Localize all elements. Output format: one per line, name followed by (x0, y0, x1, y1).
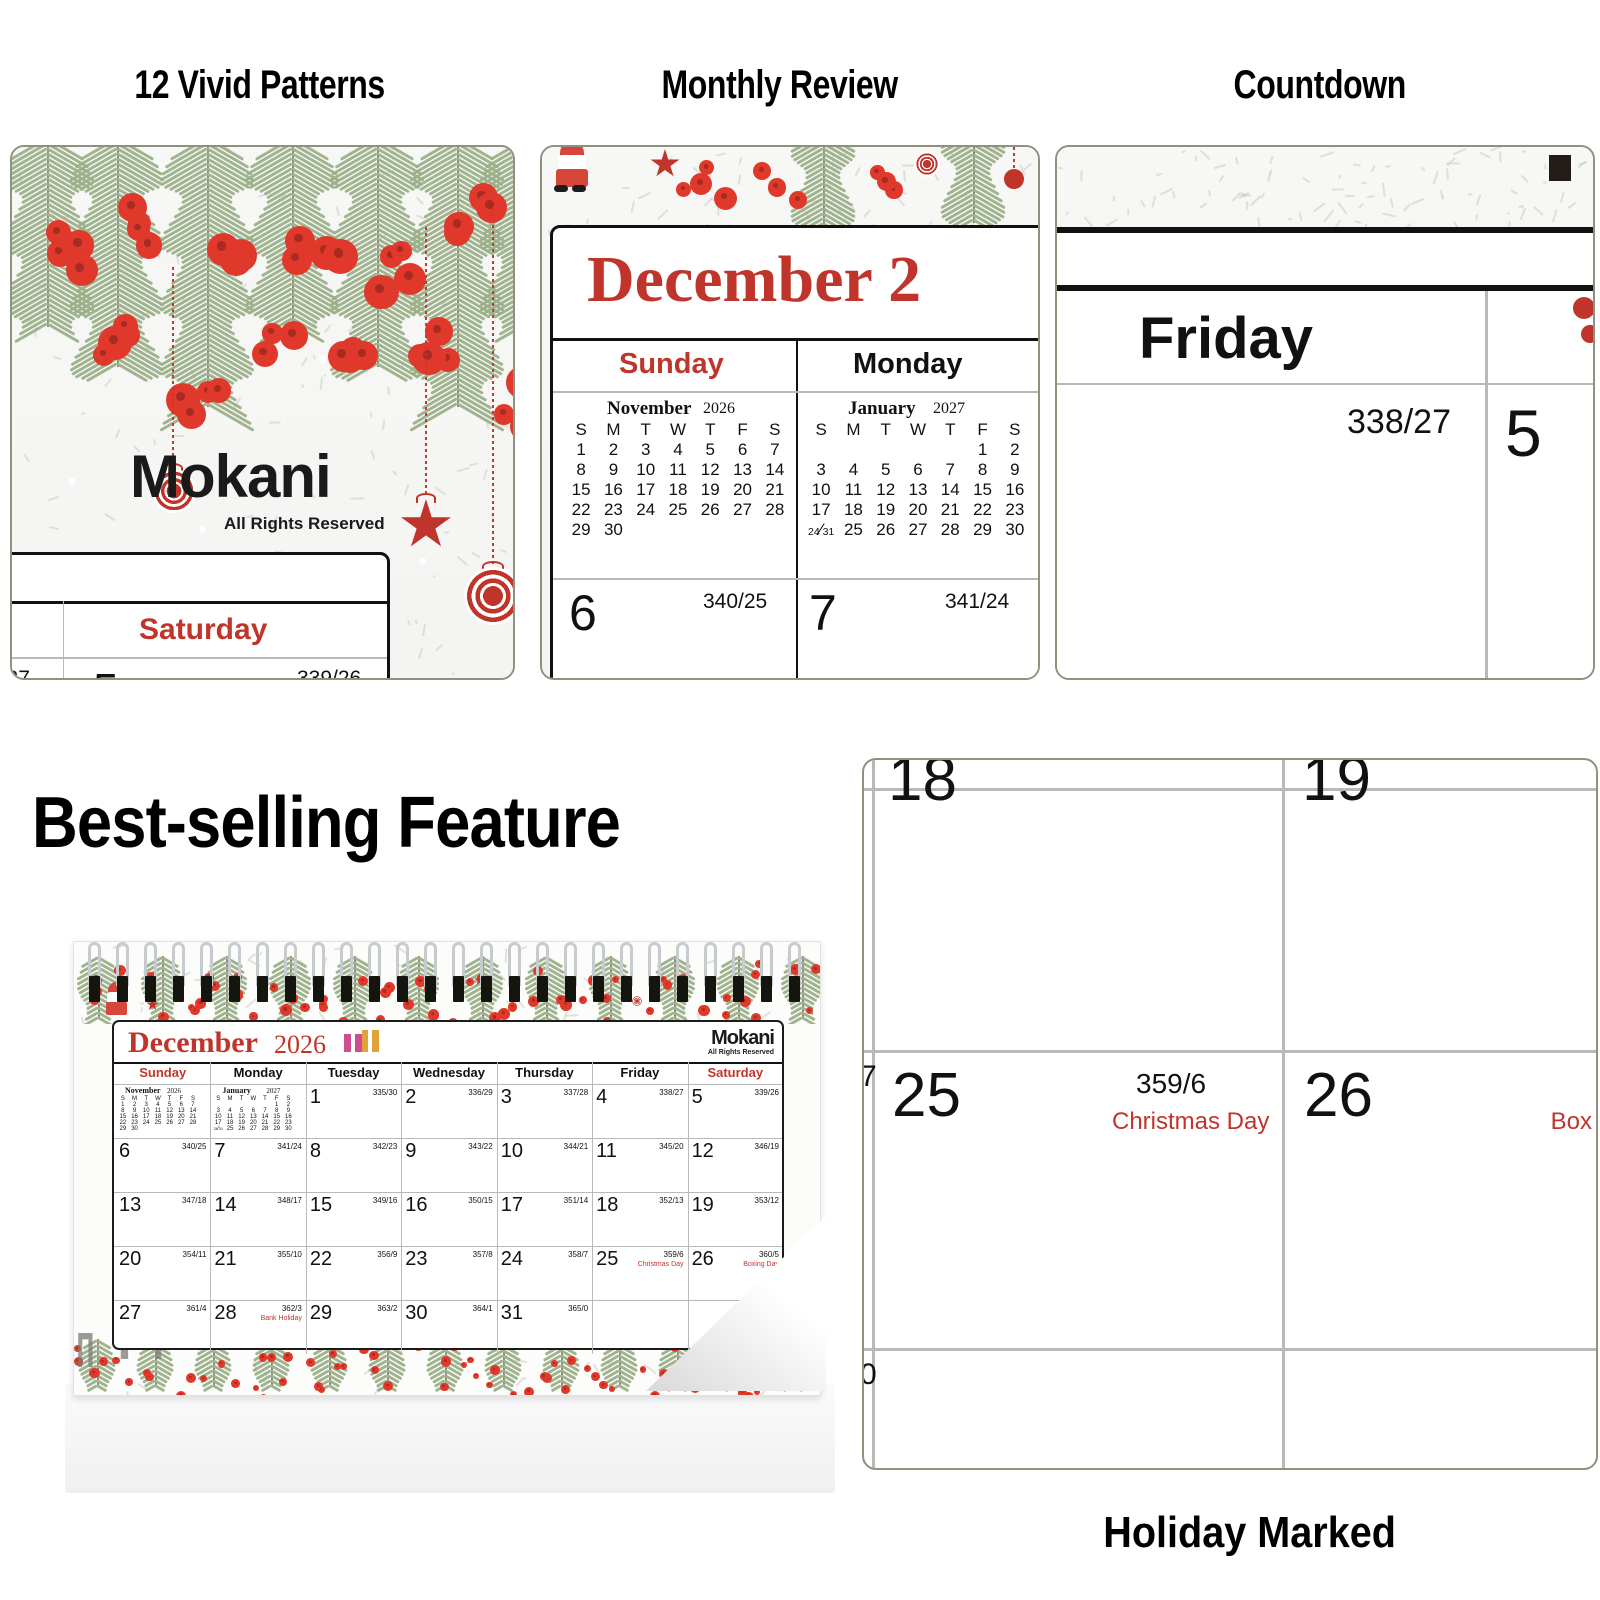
mini-day-cell: 2 (999, 440, 1031, 460)
holiday-label: Boxing Day (725, 1261, 779, 1268)
day-header-friday: Friday (1139, 305, 1313, 372)
calendar-sheet-preview: Saturday 5 339/26 8/27 (10, 552, 390, 680)
countdown-code: 341/24 (266, 1142, 302, 1151)
heading-patterns: 12 Vivid Patterns (0, 40, 520, 130)
spiral-clamp (761, 976, 772, 1002)
mini-day-cell: 15 (966, 480, 998, 500)
holiday-label: Christmas Day (630, 1261, 684, 1268)
paper-fleck (351, 497, 365, 499)
countdown-code-25: 359/6 (1136, 1068, 1206, 1100)
mini-month-name-november: November (607, 398, 691, 420)
mini-day-cell: 30 (597, 520, 629, 540)
mini-day-cell: 17 (630, 480, 662, 500)
berry-icon (282, 245, 312, 275)
mini-month-year-january: 2027 (266, 1087, 280, 1095)
day-number: 3 (501, 1086, 512, 1109)
spiral-clamp (117, 976, 128, 1002)
berry-icon (508, 1002, 517, 1011)
mini-day-cell (175, 1126, 187, 1132)
mini-day-cell: 15 (565, 480, 597, 500)
mini-day-cell: 5 (694, 440, 726, 460)
day-header-monday: Monday (853, 348, 963, 381)
mini-day-cell: 18 (662, 480, 694, 500)
mini-day-cell: 30 (283, 1126, 295, 1132)
heading-best-selling: Best-selling Feature (32, 778, 872, 868)
mini-month-name-january: January (222, 1086, 250, 1095)
countdown-code: 338/27 (648, 1088, 684, 1097)
month-title: December 2 (587, 242, 921, 318)
panel-monthly-review: December 2 Sunday Monday November 2026 S… (540, 145, 1040, 680)
berry-icon (260, 1394, 267, 1395)
countdown-code: 359/6 (648, 1250, 684, 1259)
spiral-binding (74, 942, 820, 998)
mini-day-cell: 20 (902, 500, 934, 520)
countdown-code-partial: 7 (862, 1060, 877, 1094)
mini-day-cell: 16 (999, 480, 1031, 500)
spiral-clamp (593, 976, 604, 1002)
berry-icon (806, 1007, 813, 1014)
feature-panels-row: Mokani All Rights Reserved Saturday 5 33… (0, 145, 1600, 680)
ornament-thread (1013, 147, 1015, 171)
berry-icon (118, 193, 147, 222)
countdown-code: 340/25 (170, 1142, 206, 1151)
berry-icon (789, 191, 807, 209)
mini-day-cell: 6 (902, 460, 934, 480)
heading-monthly: Monthly Review (520, 40, 1040, 130)
mini-day-cell: 7 (759, 440, 791, 460)
calendar-year: 2026 (274, 1030, 326, 1060)
berry-icon (283, 1352, 294, 1363)
mini-day-cell (164, 1126, 176, 1132)
day-header-saturday: Saturday (139, 613, 267, 647)
berry-icon (231, 1379, 240, 1388)
mini-weekday: T (934, 420, 966, 440)
day-number-18: 18 (888, 758, 957, 815)
day-number: 19 (692, 1194, 714, 1217)
countdown-code: 342/23 (361, 1142, 397, 1151)
paper-fleck (1544, 164, 1546, 169)
mini-weekday: F (966, 420, 998, 440)
day-number-6: 6 (569, 584, 597, 642)
mini-day-cell: 22 (565, 500, 597, 520)
mini-day-cell: 26 (870, 520, 902, 540)
product-photo-calendar: December 2026 Mokani All Rights Reserved… (55, 893, 855, 1533)
weekday-header-wednesday: Wednesday (401, 1065, 496, 1080)
weekday-header-monday: Monday (210, 1065, 305, 1080)
mini-day-cell: 2 (597, 440, 629, 460)
mini-weekday: F (726, 420, 758, 440)
countdown-code-partial: 8/27 (10, 667, 30, 680)
day-number: 1 (310, 1086, 321, 1109)
spiral-clamp (257, 976, 268, 1002)
column-divider (1485, 291, 1488, 680)
mini-day-cell (140, 1126, 152, 1132)
desk-surface (65, 1383, 835, 1493)
mini-day-cell: 28 (934, 520, 966, 540)
mini-day-cell: 11 (662, 460, 694, 480)
countdown-code: 337/28 (552, 1088, 588, 1097)
day-number: 6 (119, 1140, 130, 1163)
berry-icon (300, 1003, 309, 1012)
berry-icon (440, 1383, 449, 1392)
mini-day-cell: 5 (870, 460, 902, 480)
paper-fleck (523, 1378, 527, 1381)
mini-weekday: T (694, 420, 726, 440)
mini-calendar-january: SMTWTFS123456789101112131415161718192021… (212, 1096, 294, 1132)
mini-day-cell: 30 (999, 520, 1031, 540)
berry-icon (599, 1381, 607, 1389)
day-number: 13 (119, 1194, 141, 1217)
mini-day-cell: 24⁄31 (212, 1126, 224, 1132)
countdown-code: 346/19 (743, 1142, 779, 1151)
mini-day-cell (870, 440, 902, 460)
berry-icon (461, 1362, 467, 1368)
brand-logo: Mokani (130, 447, 331, 507)
day-number: 22 (310, 1248, 332, 1271)
heading-patterns-label: 12 Vivid Patterns (135, 63, 386, 108)
spiral-clamp (425, 976, 436, 1002)
day-number: 12 (692, 1140, 714, 1163)
berry-icon (112, 1357, 119, 1364)
countdown-code: 353/12 (743, 1196, 779, 1205)
mini-day-cell: 10 (630, 460, 662, 480)
mini-weekday: S (999, 420, 1031, 440)
berry-icon (1581, 325, 1595, 343)
countdown-code: 355/10 (266, 1250, 302, 1259)
berry-icon (444, 212, 474, 242)
ornament-thread (425, 227, 427, 497)
calendar-body: December 2026 Mokani All Rights Reserved… (73, 941, 821, 1396)
weekday-header-sunday: Sunday (115, 1065, 210, 1080)
countdown-code: 356/9 (361, 1250, 397, 1259)
mini-day-cell: 26 (694, 500, 726, 520)
mini-day-cell: 19 (870, 500, 902, 520)
mini-day-cell: 29 (117, 1126, 129, 1132)
heading-best-selling-label: Best-selling Feature (32, 782, 620, 864)
mini-day-cell: 1 (966, 440, 998, 460)
heading-holiday-marked: Holiday Marked (960, 1498, 1540, 1568)
mini-day-cell: 23 (597, 500, 629, 520)
mini-day-cell: 29 (966, 520, 998, 540)
paper-fleck (387, 387, 389, 395)
paper-fleck (1247, 201, 1249, 210)
day-number: 25 (596, 1248, 618, 1271)
berry-icon (486, 1382, 493, 1389)
day-number: 7 (214, 1140, 225, 1163)
brand-logo-small: Mokani (711, 1028, 774, 1048)
panel-vivid-patterns: Mokani All Rights Reserved Saturday 5 33… (10, 145, 515, 680)
spiral-clamp (201, 976, 212, 1002)
berry-icon (252, 341, 278, 367)
berry-icon (323, 239, 358, 274)
mini-day-cell (805, 440, 837, 460)
mini-day-cell: 3 (805, 460, 837, 480)
countdown-code: 349/16 (361, 1196, 397, 1205)
mini-day-cell: 1 (565, 440, 597, 460)
paper-fleck (1446, 163, 1460, 165)
paper-fleck (451, 673, 454, 675)
countdown-code: 343/22 (457, 1142, 493, 1151)
berry-icon (218, 1360, 225, 1367)
mini-day-cell (662, 520, 694, 540)
spiral-clamp (145, 976, 156, 1002)
day-number: 14 (214, 1194, 236, 1217)
mini-day-cell: 26 (236, 1126, 248, 1132)
mini-day-cell: 30 (129, 1126, 141, 1132)
spiral-clamp (509, 976, 520, 1002)
mini-calendar-january: SMTWTFS123456789101112131415161718192021… (805, 420, 1031, 540)
countdown-code: 362/3 (266, 1304, 302, 1313)
berry-icon (369, 1351, 379, 1361)
mini-calendar-table: SMTWTFS123456789101112131415161718192021… (805, 420, 1031, 540)
mini-day-cell: 19 (694, 480, 726, 500)
mini-day-cell: 21 (759, 480, 791, 500)
mini-day-cell: 16 (597, 480, 629, 500)
spiral-clamp (481, 976, 492, 1002)
mini-weekday: M (837, 420, 869, 440)
day-number-partial: 0 (862, 1358, 877, 1392)
day-number: 24 (501, 1248, 523, 1271)
mini-day-cell (759, 520, 791, 540)
rule-under-dayname (1057, 383, 1593, 385)
berry-icon (207, 233, 240, 266)
berry-icon (467, 1357, 474, 1364)
berry-icon (371, 1366, 379, 1374)
bauble-ornament-icon (914, 151, 940, 177)
bauble-ornament-icon (1004, 169, 1024, 189)
countdown-code: 350/15 (457, 1196, 493, 1205)
mini-weekday: W (662, 420, 694, 440)
heading-monthly-label: Monthly Review (662, 63, 898, 108)
countdown-code: 364/1 (457, 1304, 493, 1313)
mini-day-cell: 13 (902, 480, 934, 500)
spiral-clamp (341, 976, 352, 1002)
berry-icon (125, 1378, 133, 1386)
mini-day-cell: 28 (759, 500, 791, 520)
day-number-25: 25 (892, 1060, 961, 1131)
day-number: 17 (501, 1194, 523, 1217)
brand-rights-label: All Rights Reserved (224, 514, 385, 534)
berry-icon (279, 1378, 287, 1386)
berry-icon (743, 1392, 754, 1395)
mini-month-name-january: January (848, 398, 916, 420)
berry-icon (66, 254, 98, 286)
weekday-header-friday: Friday (592, 1065, 687, 1080)
berry-icon (561, 1385, 570, 1394)
heading-countdown: Countdown (1040, 40, 1600, 130)
paper-fleck (1081, 170, 1083, 182)
spiral-clamp (173, 976, 184, 1002)
day-number: 20 (119, 1248, 141, 1271)
mini-day-cell: 4 (662, 440, 694, 460)
mini-weekday: S (759, 420, 791, 440)
spiral-clamp (313, 976, 324, 1002)
day-header-sunday: Sunday (619, 348, 724, 381)
berry-icon (99, 1357, 108, 1366)
berry-icon (1573, 297, 1595, 319)
countdown-code: 345/20 (648, 1142, 684, 1151)
day-number: 26 (692, 1248, 714, 1271)
mini-day-cell: 11 (837, 480, 869, 500)
berry-icon (188, 1004, 195, 1011)
calendar-month-sheet: December 2026 Mokani All Rights Reserved… (112, 1020, 784, 1350)
mini-day-cell: 24⁄31 (805, 520, 837, 540)
mini-day-cell: 8 (966, 460, 998, 480)
weekday-header-saturday: Saturday (688, 1065, 783, 1080)
spiral-clamp (565, 976, 576, 1002)
heading-holiday-marked-label: Holiday Marked (1104, 1508, 1397, 1558)
berry-icon (490, 1365, 500, 1375)
berry-icon (259, 1353, 268, 1362)
berry-icon (253, 1385, 259, 1391)
mini-weekday: T (870, 420, 902, 440)
panel-holiday-marked: 18 19 7 0 25 359/6 Christmas Day 26 Box (862, 758, 1598, 1470)
berry-icon (513, 371, 515, 393)
berry-icon (609, 1386, 616, 1393)
spiral-clamp (677, 976, 688, 1002)
spiral-clamp (733, 976, 744, 1002)
day-number: 11 (596, 1140, 617, 1163)
bauble-ornament-icon (464, 567, 515, 625)
top-headings-row: 12 Vivid Patterns Monthly Review Countdo… (0, 40, 1600, 130)
mini-day-cell (837, 440, 869, 460)
mini-day-cell: 29 (565, 520, 597, 540)
berry-icon (280, 321, 308, 349)
next-day-number: 5 (1505, 395, 1542, 471)
berry-icon (428, 1009, 440, 1021)
holiday-label-boxing: Box (1551, 1108, 1592, 1136)
gift-box-icon (342, 1024, 382, 1058)
countdown-code: 339/26 (297, 667, 361, 680)
berry-icon (768, 178, 787, 197)
berry-icon (280, 1004, 292, 1016)
day-number: 8 (310, 1140, 321, 1163)
countdown-code: 354/11 (170, 1250, 206, 1259)
berry-icon (877, 172, 896, 191)
day-number-19: 19 (1302, 758, 1371, 815)
mini-day-cell: 9 (597, 460, 629, 480)
countdown-code: 344/21 (552, 1142, 588, 1151)
spiral-clamp (453, 976, 464, 1002)
pine-branch-icon (482, 145, 515, 327)
black-tab-marker (1549, 155, 1571, 181)
mini-day-cell: 23 (999, 500, 1031, 520)
holiday-label: Bank Holiday (248, 1315, 302, 1322)
berry-icon (391, 241, 411, 261)
countdown-code: 351/14 (552, 1196, 588, 1205)
countdown-code: 365/0 (552, 1304, 588, 1313)
spiral-clamp (789, 976, 800, 1002)
day-number: 9 (405, 1140, 416, 1163)
pine-branch-icon (792, 145, 858, 227)
berry-icon (394, 263, 426, 295)
berry-icon (441, 1356, 451, 1366)
weekday-header-thursday: Thursday (497, 1065, 592, 1080)
paper-fleck (1468, 193, 1473, 195)
brand-rights-small: All Rights Reserved (708, 1049, 774, 1056)
heading-countdown-label: Countdown (1234, 63, 1406, 108)
countdown-code: 358/7 (552, 1250, 588, 1259)
mini-day-cell: 7 (934, 460, 966, 480)
berry-icon (640, 1366, 646, 1372)
countdown-code: 357/8 (457, 1250, 493, 1259)
mini-day-cell: 14 (759, 460, 791, 480)
day-number: 23 (405, 1248, 427, 1271)
paper-fleck (173, 434, 184, 436)
day-number: 15 (310, 1194, 332, 1217)
mini-day-cell (630, 520, 662, 540)
ornament-thread (492, 207, 494, 567)
berry-icon (318, 1386, 325, 1393)
berry-icon (510, 1391, 517, 1395)
mini-calendar-november: SMTWTFS123456789101112131415161718192021… (565, 420, 791, 540)
countdown-code: 338/27 (1347, 403, 1451, 442)
berry-icon (650, 1391, 660, 1395)
countdown-code: 361/4 (170, 1304, 206, 1313)
day-number: 5 (93, 663, 119, 680)
mini-day-cell: 18 (837, 500, 869, 520)
countdown-code-7: 341/24 (945, 590, 1009, 614)
berry-icon (89, 1368, 99, 1378)
mini-weekday: M (597, 420, 629, 440)
berry-icon (113, 314, 137, 338)
calendar-month-name: December (128, 1026, 258, 1060)
day-number: 2 (405, 1086, 416, 1109)
berry-icon (186, 1373, 196, 1383)
countdown-code: 339/26 (743, 1088, 779, 1097)
mini-day-cell: 24 (630, 500, 662, 520)
mini-day-cell (902, 440, 934, 460)
countdown-code-6: 340/25 (703, 590, 767, 614)
mini-day-cell: 28 (259, 1126, 271, 1132)
mini-day-cell: 4 (837, 460, 869, 480)
day-number: 5 (692, 1086, 703, 1109)
mini-day-cell: 12 (870, 480, 902, 500)
countdown-code: 347/18 (170, 1196, 206, 1205)
paper-fleck (903, 170, 905, 182)
berry-icon (676, 182, 691, 197)
mini-day-cell: 25 (837, 520, 869, 540)
mini-weekday: S (565, 420, 597, 440)
holiday-label-christmas: Christmas Day (1112, 1108, 1269, 1136)
panel-countdown: Friday 338/27 5 (1055, 145, 1595, 680)
day-number-7: 7 (809, 584, 837, 642)
berry-icon (143, 1369, 151, 1377)
mini-day-cell: 22 (966, 500, 998, 520)
mini-day-cell: 12 (694, 460, 726, 480)
day-number: 30 (405, 1302, 427, 1325)
ornament-thread (172, 267, 174, 467)
day-number: 29 (310, 1302, 332, 1325)
mini-day-cell: 25 (662, 500, 694, 520)
day-number: 4 (596, 1086, 607, 1109)
mini-month-year-january: 2027 (933, 400, 965, 418)
spiral-clamp (89, 976, 100, 1002)
weekday-header-tuesday: Tuesday (306, 1065, 401, 1080)
spiral-clamp (621, 976, 632, 1002)
mini-day-cell (934, 440, 966, 460)
mini-weekday: T (630, 420, 662, 440)
pine-branch-icon (162, 145, 258, 407)
spiral-clamp (285, 976, 296, 1002)
spiral-clamp (397, 976, 408, 1002)
spiral-clamp (369, 976, 380, 1002)
mini-weekday: S (805, 420, 837, 440)
mini-month-year-november: 2026 (167, 1087, 181, 1095)
mini-day-cell (694, 520, 726, 540)
day-number: 28 (214, 1302, 236, 1325)
day-number: 10 (501, 1140, 523, 1163)
